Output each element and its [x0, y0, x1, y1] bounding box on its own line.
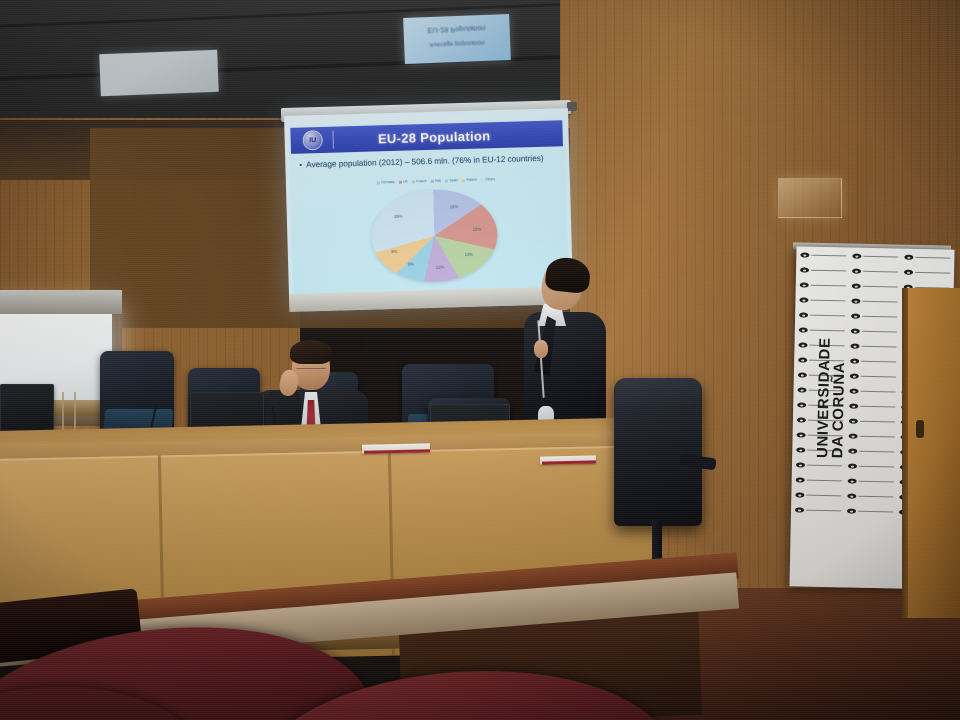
sponsor-logo-row	[850, 357, 896, 367]
sponsor-name-line	[862, 331, 897, 333]
door-handle[interactable]	[916, 420, 924, 438]
sponsor-logo-row	[851, 327, 897, 337]
legend-label: Spain	[449, 178, 458, 182]
eyeglasses-icon	[296, 360, 326, 369]
legend-color-swatch	[445, 179, 448, 182]
sponsor-logo-icon	[847, 494, 856, 499]
sponsor-name-line	[862, 301, 897, 303]
slide-title: EU-28 Population	[333, 126, 562, 147]
sponsor-name-line	[806, 509, 841, 511]
sponsor-logo-icon	[798, 342, 807, 347]
sponsor-logo-icon	[850, 374, 859, 379]
sponsor-logo-icon	[850, 389, 859, 394]
legend-item: Spain	[445, 178, 458, 182]
pie-slice-label: 13%	[465, 251, 474, 256]
sponsor-logo-icon	[799, 312, 808, 317]
sponsor-logo-row	[851, 297, 897, 307]
pie-slice-label: 29%	[394, 214, 403, 219]
sponsor-logo-row	[848, 447, 894, 457]
sponsor-logo-icon	[852, 269, 861, 274]
legend-color-swatch	[399, 180, 402, 183]
sponsor-logo-icon	[848, 449, 857, 454]
sponsor-name-line	[807, 479, 842, 481]
sponsor-logo-icon	[800, 252, 809, 257]
sponsor-name-line	[859, 465, 894, 467]
legend-label: Poland	[466, 178, 476, 182]
institution-logo-icon: IU	[302, 130, 323, 151]
sponsor-logo-row	[796, 460, 842, 470]
sponsor-logo-row	[904, 253, 950, 263]
pie-slice-label: 12%	[436, 264, 445, 269]
sponsor-logo-row	[796, 475, 842, 485]
sponsor-logo-icon	[799, 297, 808, 302]
sponsor-logo-icon	[797, 417, 806, 422]
monitor-lid[interactable]	[0, 384, 54, 436]
presenter-hair	[544, 256, 591, 294]
blind-cord[interactable]	[62, 392, 76, 434]
sponsor-name-line	[915, 257, 950, 259]
sponsor-logo-icon	[904, 270, 913, 275]
sponsor-logo-row	[849, 432, 895, 442]
sponsor-logo-icon	[851, 329, 860, 334]
sponsor-logo-icon	[849, 419, 858, 424]
sponsor-logo-icon	[851, 299, 860, 304]
sponsor-logo-icon	[796, 462, 805, 467]
legend-item: Poland	[462, 178, 477, 182]
sponsor-logo-icon	[795, 507, 804, 512]
reflection-title-text: EU-28 Population	[404, 23, 510, 34]
legend-item: Italy	[430, 179, 441, 183]
sponsor-logo-row	[850, 342, 896, 352]
ceiling-light-panel	[99, 50, 219, 96]
sponsor-name-line	[807, 464, 842, 466]
sponsor-logo-row	[849, 387, 895, 397]
sponsor-name-line	[861, 391, 896, 393]
sponsor-logo-icon	[904, 255, 913, 260]
sponsor-logo-icon	[848, 479, 857, 484]
sponsor-logo-icon	[796, 447, 805, 452]
sponsor-logo-row	[847, 492, 893, 502]
legend-label: Italy	[435, 179, 441, 183]
sponsor-logo-row	[851, 312, 897, 322]
sponsor-logo-icon	[849, 434, 858, 439]
chart-legend: GermanyUKFranceItalySpainPolandOthers	[336, 176, 536, 186]
sponsor-logo-row	[795, 505, 841, 515]
sponsor-logo-icon	[848, 464, 857, 469]
sponsor-logo-row	[795, 490, 841, 500]
sponsor-name-line	[863, 256, 898, 258]
pie-chart-disc	[370, 188, 499, 283]
legend-color-swatch	[462, 178, 465, 181]
sponsor-name-line	[915, 272, 950, 274]
slide-title-bar: IU EU-28 Population	[290, 120, 563, 154]
wooden-door[interactable]	[908, 288, 960, 618]
legend-color-swatch	[412, 180, 415, 183]
sponsor-name-line	[811, 254, 846, 256]
slide-bullet-text: Average population (2012) – 506.6 mln. (…	[306, 153, 544, 171]
pie-slice-label: 8%	[391, 249, 397, 254]
banner-university-name: UNIVERSIDADE DA CORUÑA	[815, 258, 849, 459]
legend-label: Others	[485, 177, 495, 181]
executive-chair[interactable]	[614, 378, 702, 526]
sponsor-name-line	[861, 376, 896, 378]
reflection-body-text: Average population	[404, 38, 510, 48]
legend-label: France	[416, 179, 426, 183]
ceiling-slide-reflection: EU-28 Population Average population	[403, 14, 511, 64]
sponsor-logo-icon	[798, 357, 807, 362]
sponsor-name-line	[860, 420, 895, 422]
bullet-point-icon: •	[299, 160, 302, 171]
sponsor-logo-icon	[798, 387, 807, 392]
window-blind[interactable]	[0, 290, 122, 314]
sponsor-name-line	[860, 435, 895, 437]
sponsor-name-line	[860, 406, 895, 408]
legend-item: Germany	[377, 180, 395, 185]
sponsor-name-line	[862, 316, 897, 318]
sponsor-name-line	[863, 286, 898, 288]
legend-item: UK	[399, 180, 408, 184]
sponsor-logo-row	[848, 477, 894, 487]
sponsor-name-line	[859, 450, 894, 452]
photo-scene: EU-28 Population Average population IU E…	[0, 0, 960, 720]
wall-sign-plaque	[778, 178, 842, 218]
sponsor-logo-icon	[849, 404, 858, 409]
sponsor-logo-icon	[852, 284, 861, 289]
sponsor-logo-icon	[850, 344, 859, 349]
sponsor-logo-icon	[798, 372, 807, 377]
sponsor-name-line	[861, 361, 896, 363]
screen-roller-knob[interactable]	[567, 102, 577, 111]
sponsor-logo-icon	[795, 492, 804, 497]
pie-slice-label: 16%	[450, 204, 459, 209]
chair-headrest	[616, 378, 700, 408]
sponsor-logo-icon	[847, 508, 856, 513]
banner-logo-column	[845, 252, 898, 589]
sponsor-name-line	[863, 271, 898, 273]
sponsor-logo-icon	[797, 402, 806, 407]
sponsor-logo-row	[847, 506, 893, 516]
sponsor-name-line	[858, 495, 893, 497]
legend-color-swatch	[430, 179, 433, 182]
sponsor-name-line	[806, 494, 841, 496]
sponsor-logo-icon	[850, 359, 859, 364]
sponsor-name-line	[858, 510, 893, 512]
sponsor-logo-icon	[800, 267, 809, 272]
presenter-hand-upper	[534, 340, 548, 358]
slide-bullet-line: • Average population (2012) – 506.6 mln.…	[299, 152, 559, 170]
sponsor-logo-row	[849, 417, 895, 427]
sponsor-logo-row	[850, 372, 896, 382]
sponsor-logo-icon	[799, 327, 808, 332]
legend-color-swatch	[481, 178, 484, 181]
sponsor-logo-icon	[796, 477, 805, 482]
sponsor-logo-row	[852, 267, 898, 277]
sponsor-name-line	[861, 346, 896, 348]
sponsor-logo-row	[904, 268, 950, 278]
sponsor-logo-row	[848, 462, 894, 472]
sponsor-logo-icon	[800, 282, 809, 287]
legend-item: France	[412, 179, 427, 183]
sponsor-logo-icon	[852, 254, 861, 259]
sponsor-logo-icon	[851, 314, 860, 319]
legend-label: UK	[403, 180, 408, 184]
pie-slice-label: 9%	[408, 261, 414, 266]
pie-chart: 16%13%13%12%9%8%29%	[358, 188, 511, 288]
legend-label: Germany	[381, 180, 395, 184]
sponsor-logo-row	[849, 402, 895, 412]
legend-item: Others	[481, 177, 496, 181]
sponsor-name-line	[859, 480, 894, 482]
sponsor-logo-icon	[797, 432, 806, 437]
pie-slice-label: 13%	[473, 227, 482, 232]
legend-color-swatch	[377, 181, 380, 184]
sponsor-logo-row	[852, 252, 898, 262]
sponsor-logo-row	[852, 282, 898, 292]
